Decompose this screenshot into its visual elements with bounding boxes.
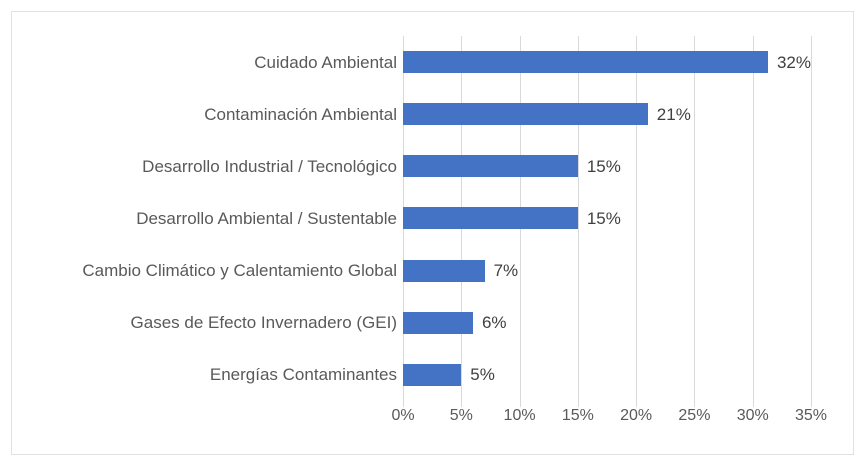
x-tick-label: 25% [678,408,710,424]
bar-row[interactable]: 21% [403,88,811,140]
category-label: Gases de Efecto Invernadero (GEI) [17,297,397,349]
bar[interactable] [403,51,768,73]
bar-value-label: 7% [494,262,519,279]
x-tick-label: 20% [620,408,652,424]
bar-series: 32%21%15%15%7%6%5% [403,36,811,401]
bar[interactable] [403,260,485,282]
plot-area: 32%21%15%15%7%6%5% [403,36,811,401]
bar-value-label: 32% [777,54,811,71]
bar-value-label: 6% [482,314,507,331]
category-label: Desarrollo Industrial / Tecnológico [17,140,397,192]
category-label: Desarrollo Ambiental / Sustentable [17,192,397,244]
category-axis-labels: Cuidado AmbientalContaminación Ambiental… [17,36,397,401]
gridline [811,36,812,401]
bar-value-label: 15% [587,210,621,227]
bar-row[interactable]: 5% [403,349,811,401]
x-tick-label: 30% [737,408,769,424]
bar-row[interactable]: 32% [403,36,811,88]
x-tick-label: 0% [391,408,414,424]
chart-frame: Cuidado AmbientalContaminación Ambiental… [11,11,854,455]
bar-row[interactable]: 7% [403,245,811,297]
category-label: Contaminación Ambiental [17,88,397,140]
category-label: Energías Contaminantes [17,349,397,401]
x-tick-label: 10% [504,408,536,424]
x-tick-label: 15% [562,408,594,424]
bar[interactable] [403,364,461,386]
bar[interactable] [403,312,473,334]
x-tick-label: 5% [450,408,473,424]
bar-row[interactable]: 15% [403,140,811,192]
category-label: Cuidado Ambiental [17,36,397,88]
bar[interactable] [403,103,648,125]
value-axis-labels: 0%5%10%15%20%25%30%35% [403,408,811,436]
bar-row[interactable]: 15% [403,192,811,244]
bar-row[interactable]: 6% [403,297,811,349]
category-label: Cambio Climático y Calentamiento Global [17,245,397,297]
bar-value-label: 15% [587,158,621,175]
bar-value-label: 21% [657,106,691,123]
bar[interactable] [403,155,578,177]
bar[interactable] [403,207,578,229]
x-tick-label: 35% [795,408,827,424]
bar-value-label: 5% [470,366,495,383]
